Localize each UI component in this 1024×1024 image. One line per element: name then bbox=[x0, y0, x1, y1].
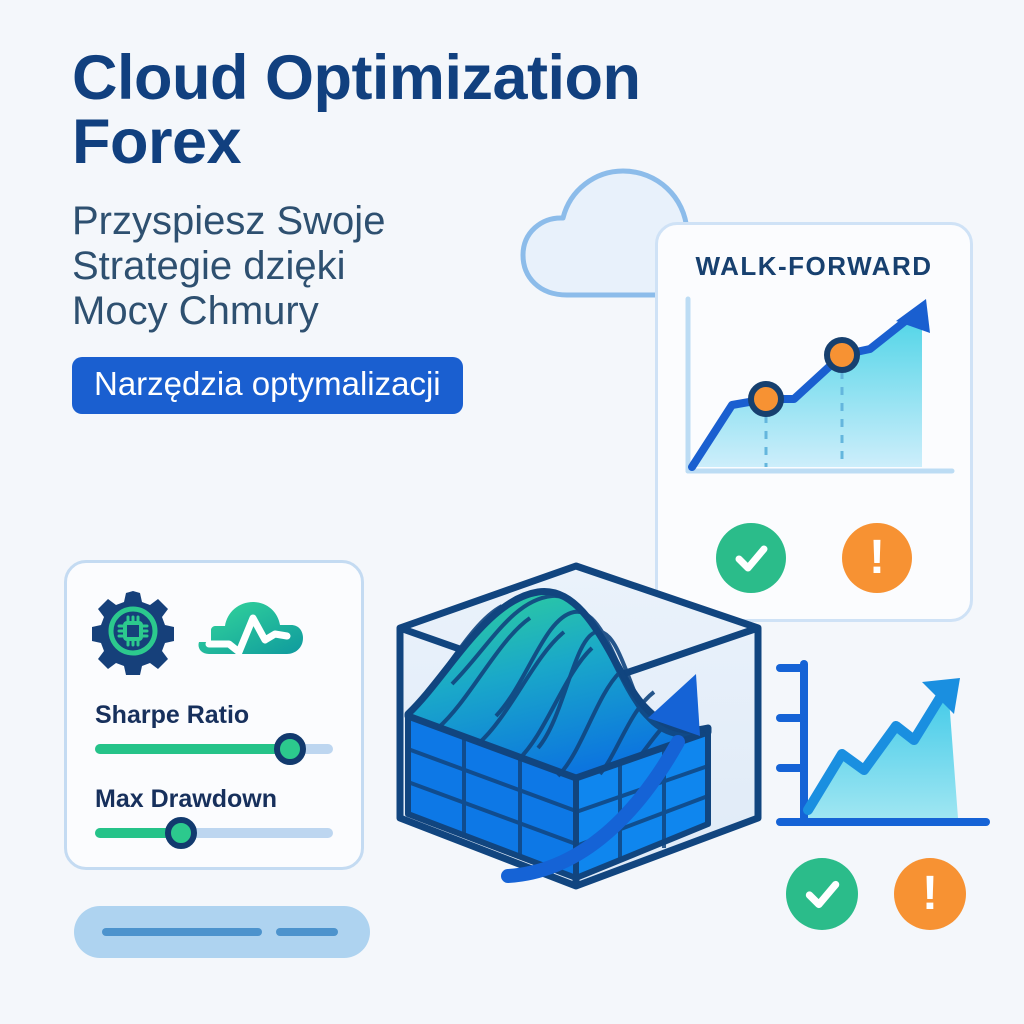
metric-sharpe-ratio: Sharpe Ratio bbox=[95, 701, 339, 754]
placeholder-bar-long bbox=[102, 928, 262, 936]
walk-forward-title: WALK-FORWARD bbox=[658, 251, 970, 282]
metric-label-max-drawdown: Max Drawdown bbox=[95, 785, 339, 814]
poster-canvas: Cloud Optimization Forex Przyspiesz Swoj… bbox=[0, 0, 1024, 1024]
cloud-chart-icon bbox=[195, 596, 305, 666]
bottom-status-row: ! bbox=[786, 858, 966, 930]
subtitle-line-3: Mocy Chmury bbox=[72, 289, 592, 334]
page-title-line-2: Forex bbox=[72, 112, 592, 172]
slider-knob[interactable] bbox=[165, 817, 197, 849]
slider-knob[interactable] bbox=[274, 733, 306, 765]
metric-max-drawdown: Max Drawdown bbox=[95, 785, 339, 838]
3d-optimization-surface-cube bbox=[378, 556, 778, 926]
subtitle-line-2: Strategie dzięki bbox=[72, 244, 592, 289]
placeholder-bar-short bbox=[276, 928, 338, 936]
chart-marker-1 bbox=[751, 384, 781, 414]
status-badge-success[interactable] bbox=[786, 858, 858, 930]
slider-max-drawdown[interactable] bbox=[95, 828, 333, 838]
metrics-icon-row bbox=[89, 587, 305, 675]
walk-forward-chart bbox=[674, 293, 960, 493]
exclamation-icon: ! bbox=[869, 534, 885, 582]
subtitle: Przyspiesz Swoje Strategie dzięki Mocy C… bbox=[72, 199, 592, 333]
slider-fill bbox=[95, 744, 290, 754]
subtitle-line-1: Przyspiesz Swoje bbox=[72, 199, 592, 244]
exclamation-icon: ! bbox=[922, 870, 938, 918]
check-icon bbox=[799, 871, 845, 917]
optimization-tools-badge[interactable]: Narzędzia optymalizacji bbox=[72, 357, 463, 414]
status-badge-warning[interactable]: ! bbox=[894, 858, 966, 930]
headline-block: Cloud Optimization Forex Przyspiesz Swoj… bbox=[72, 48, 592, 414]
chart-marker-2 bbox=[827, 340, 857, 370]
status-badge-warning[interactable]: ! bbox=[842, 523, 912, 593]
gear-chip-icon bbox=[89, 587, 177, 675]
metric-label-sharpe-ratio: Sharpe Ratio bbox=[95, 701, 339, 730]
slider-sharpe-ratio[interactable] bbox=[95, 744, 333, 754]
metrics-panel[interactable]: Sharpe Ratio Max Drawdown bbox=[64, 560, 364, 870]
placeholder-bar bbox=[74, 906, 370, 958]
mini-performance-chart bbox=[772, 652, 997, 847]
page-title-line-1: Cloud Optimization bbox=[72, 48, 592, 108]
